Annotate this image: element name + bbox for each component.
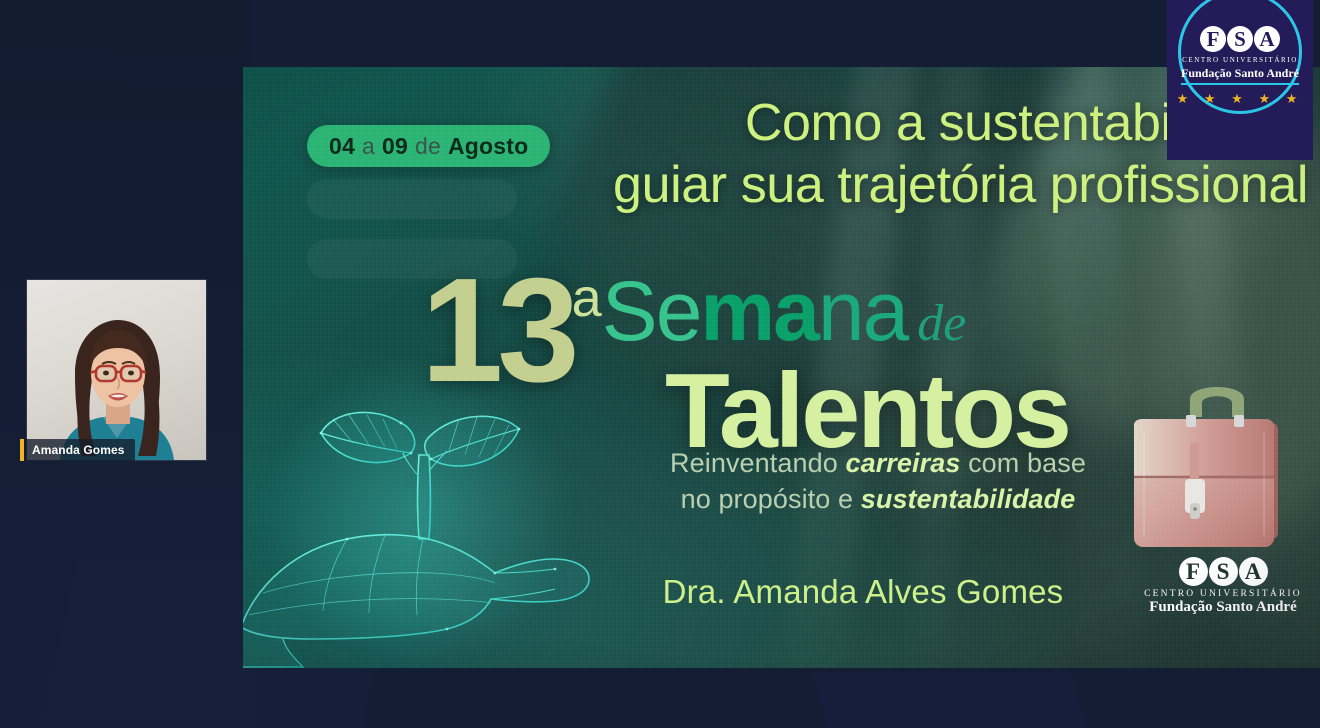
backdrop-shape-lower-right	[811, 672, 1088, 728]
fsa-letter-s: S	[1209, 557, 1238, 586]
tagline-l1-bold: carreiras	[845, 448, 960, 478]
watermark-centro-universitario: CENTRO UNIVERSITÁRIO	[1167, 56, 1313, 64]
tagline-line-1: Reinventando carreiras com base	[643, 445, 1113, 481]
word-ma: ma	[700, 264, 817, 358]
watermark-content: F S A CENTRO UNIVERSITÁRIO Fundação Sant…	[1167, 26, 1313, 107]
tagline-l1-pre: Reinventando	[670, 448, 845, 478]
watermark-letters: F S A	[1167, 26, 1313, 52]
watermark-institution-name: Fundação Santo André	[1181, 66, 1299, 85]
fsa-institution-name: Fundação Santo André	[1143, 599, 1303, 616]
date-end-day: 09	[382, 133, 408, 160]
tagline-line-2: no propósito e sustentabilidade	[643, 481, 1113, 517]
event-title-lockup: 13aSemanade Talentos	[421, 263, 1121, 463]
word-se: Se	[602, 264, 701, 358]
date-de: de	[415, 133, 441, 160]
watermark-letter-a: A	[1254, 26, 1280, 52]
participant-name-chip: Amanda Gomes	[20, 439, 135, 461]
fsa-letter-f: F	[1179, 557, 1208, 586]
briefcase-illustration	[1128, 377, 1313, 572]
meeting-screen: 04 a 09 de Agosto Como a sustentabilidad…	[0, 0, 1320, 728]
date-month: Agosto	[448, 133, 528, 160]
word-de: de	[917, 295, 966, 352]
word-na: na	[818, 264, 907, 358]
fsa-watermark-badge: F S A CENTRO UNIVERSITÁRIO Fundação Sant…	[1167, 0, 1313, 160]
watermark-letter-f: F	[1200, 26, 1226, 52]
tagline-l2-pre: no propósito e	[681, 484, 861, 514]
edition-number: 13	[421, 263, 574, 399]
tagline-l2-bold: sustentabilidade	[861, 484, 1076, 514]
date-start-day: 04	[329, 133, 355, 160]
tagline-l1-post: com base	[960, 448, 1085, 478]
event-date-pill: 04 a 09 de Agosto	[307, 125, 550, 167]
name-accent-bar	[20, 439, 24, 461]
ghost-pill-1	[307, 179, 517, 219]
fsa-letter-a: A	[1239, 557, 1268, 586]
fsa-logo-bottom: F S A CENTRO UNIVERSITÁRIO Fundação Sant…	[1143, 557, 1303, 616]
watermark-stars-icon: ★ ★ ★ ★ ★	[1167, 91, 1313, 107]
participant-name-label: Amanda Gomes	[32, 443, 125, 457]
headline-line-2: guiar sua trajetória profissional	[563, 155, 1308, 217]
participant-avatar	[42, 310, 192, 460]
edition-ordinal: a	[572, 267, 602, 329]
watermark-letter-s: S	[1227, 26, 1253, 52]
fsa-logo-letters: F S A	[1143, 557, 1303, 586]
date-separator: a	[362, 133, 375, 160]
participant-video-tile[interactable]	[27, 280, 206, 460]
slide-tagline: Reinventando carreiras com base no propó…	[643, 445, 1113, 518]
fsa-centro-universitario: CENTRO UNIVERSITÁRIO	[1143, 589, 1303, 599]
speaker-name: Dra. Amanda Alves Gomes	[633, 573, 1093, 611]
presentation-slide[interactable]: 04 a 09 de Agosto Como a sustentabilidad…	[243, 67, 1320, 668]
